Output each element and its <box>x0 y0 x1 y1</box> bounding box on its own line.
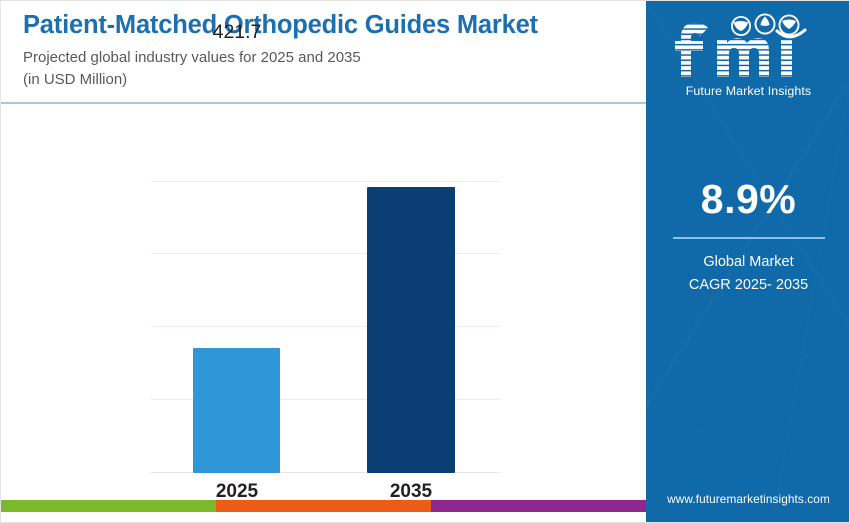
page-subtitle: Projected global industry values for 202… <box>23 47 633 90</box>
footer-color-stripe <box>1 500 646 512</box>
cagr-caption-line1: Global Market <box>646 251 850 274</box>
bar-chart: 421.7 986.3 2025 2035 <box>151 181 501 473</box>
stripe-segment-orange <box>216 500 431 512</box>
bar-2035[interactable] <box>367 187 455 473</box>
bar-2025[interactable] <box>193 348 280 473</box>
header-divider <box>1 102 646 104</box>
site-url[interactable]: www.futuremarketinsights.com <box>646 492 850 506</box>
bar-value-2025: 421.7 <box>177 21 297 44</box>
stripe-segment-green <box>1 500 216 512</box>
fmi-logo: Future Market Insights <box>646 9 850 98</box>
fmi-logo-tagline: Future Market Insights <box>646 84 850 98</box>
cagr-value: 8.9% <box>646 179 850 220</box>
content-region: Patient-Matched Orthopedic Guides Market… <box>1 1 646 512</box>
stripe-segment-purple <box>431 500 646 512</box>
header: Patient-Matched Orthopedic Guides Market… <box>23 11 633 90</box>
cagr-caption: Global Market CAGR 2025- 2035 <box>646 251 850 297</box>
brand-panel: Future Market Insights 8.9% Global Marke… <box>646 1 850 523</box>
gridline <box>151 181 501 182</box>
fmi-logo-mark <box>665 9 833 81</box>
infographic-root: Patient-Matched Orthopedic Guides Market… <box>0 0 850 523</box>
page-title: Patient-Matched Orthopedic Guides Market <box>23 11 633 40</box>
cagr-caption-line2: CAGR 2025- 2035 <box>646 274 850 297</box>
cagr-block: 8.9% Global Market CAGR 2025- 2035 <box>646 179 850 297</box>
cagr-divider <box>673 237 825 239</box>
